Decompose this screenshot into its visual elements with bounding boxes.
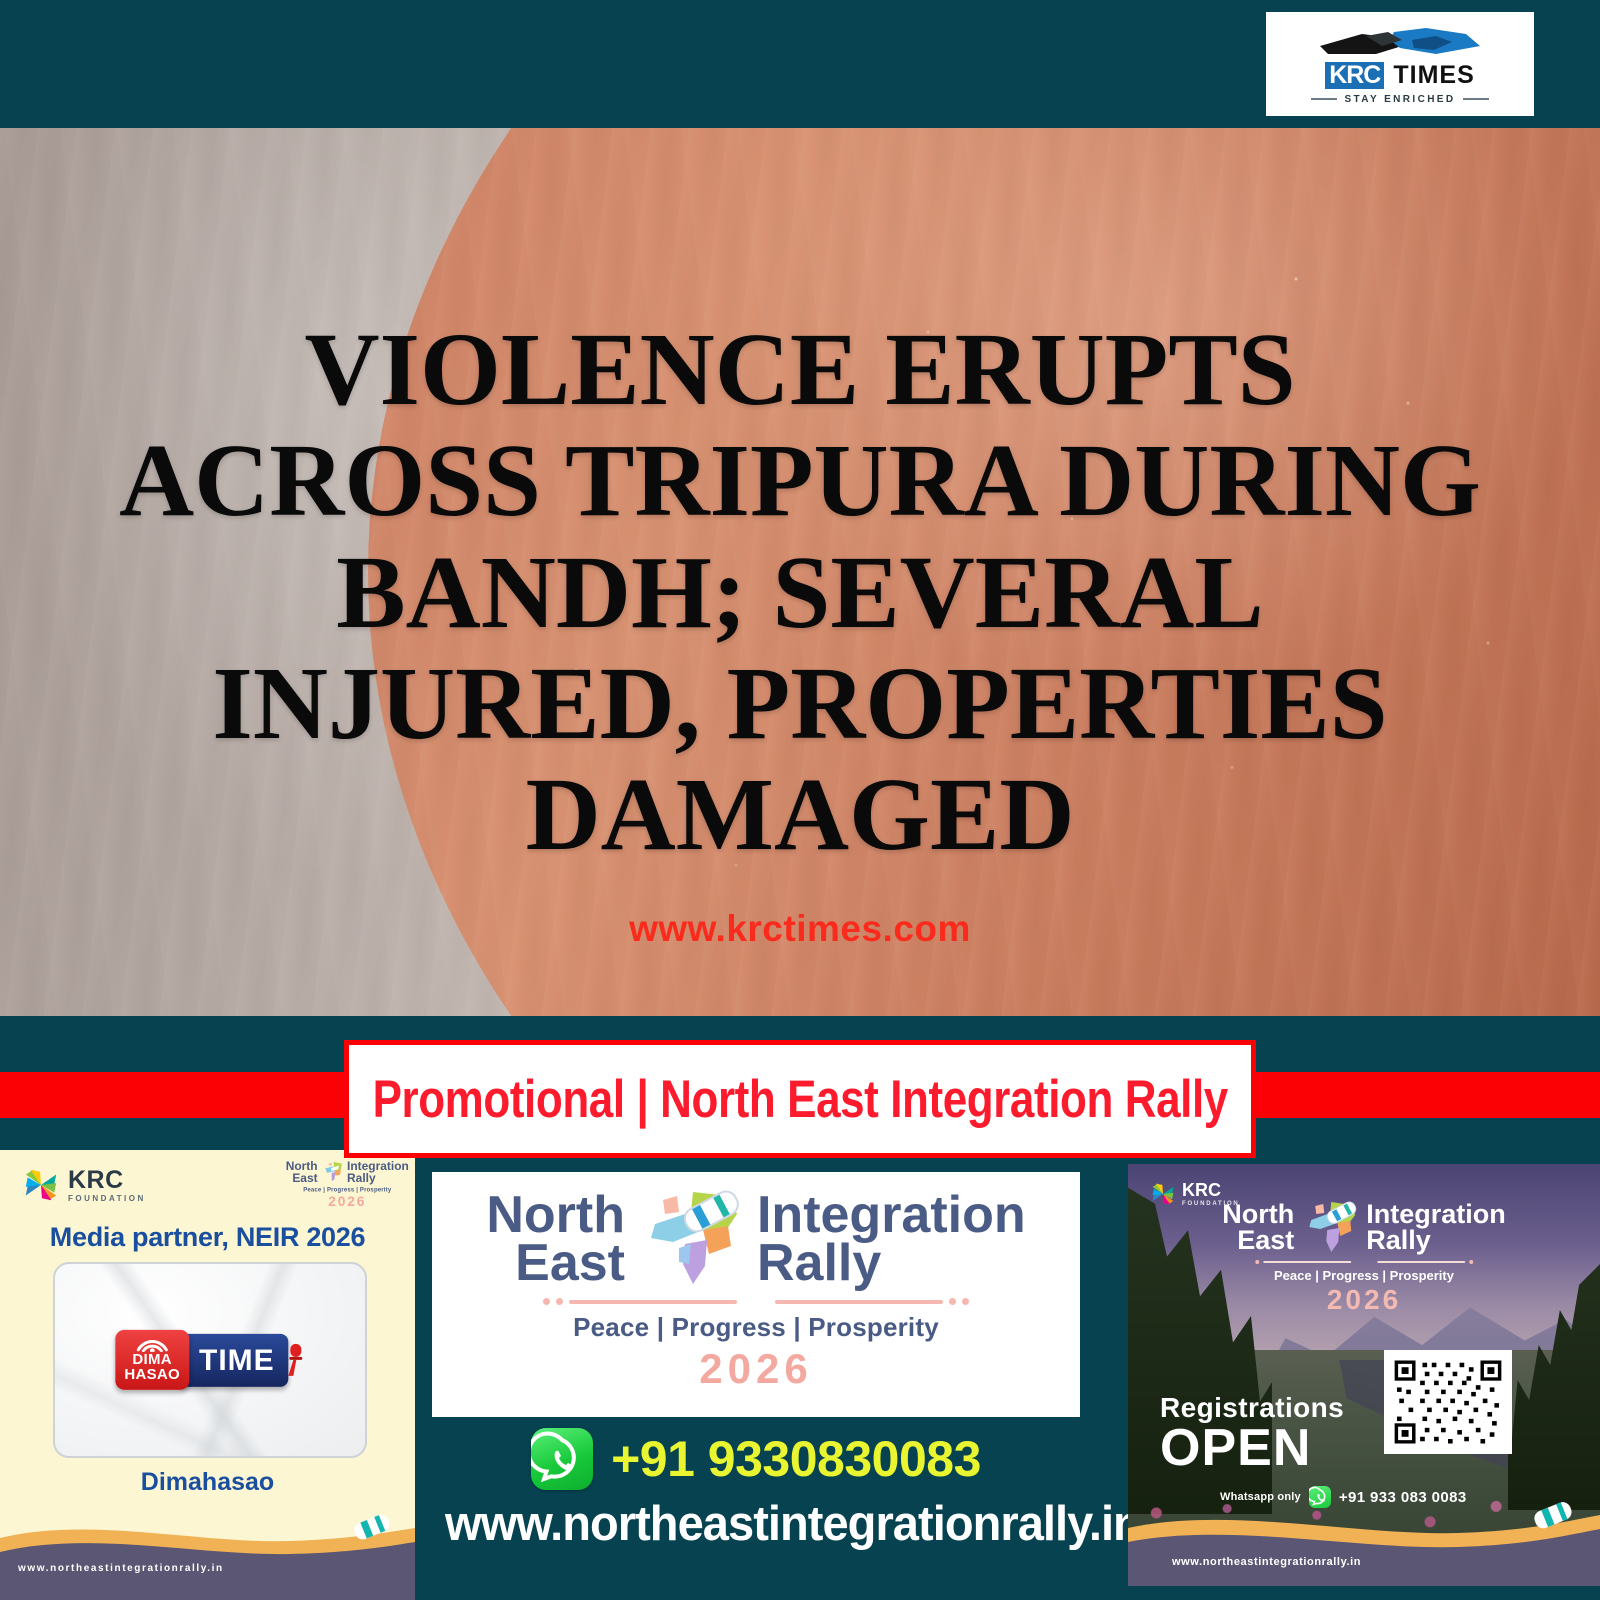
neir-large-tagline: Peace | Progress | Prosperity	[446, 1312, 1066, 1343]
neir-photo-year: 2026	[1222, 1284, 1505, 1316]
left-card-url: www.northeastintegrationrally.in	[18, 1563, 224, 1574]
right-card-url: www.northeastintegrationrally.in	[1172, 1556, 1361, 1568]
neir-photo-tagline: Peace | Progress | Prosperity	[1222, 1268, 1505, 1283]
time-text: TIME	[199, 1347, 275, 1374]
northeast-map-icon	[633, 1188, 749, 1292]
whatsapp-contact-row[interactable]: +91 9330830083	[432, 1428, 1080, 1490]
headline: VIOLENCE ERUPTS ACROSS TRIPURA DURING BA…	[90, 314, 1510, 870]
krc-times-logo: KRC TIMES STAY ENRICHED	[1266, 12, 1534, 116]
partner-location: Dimahasao	[0, 1468, 415, 1497]
partner-logo-frame: DIMA HASAO TIME	[53, 1262, 367, 1458]
neir-photo-divider	[1222, 1260, 1505, 1264]
neir-large-line4: Rally	[757, 1240, 1026, 1288]
neir-large-line1: North	[486, 1192, 625, 1240]
krc-foundation-name: KRC	[1182, 1180, 1240, 1201]
registrations-status: OPEN	[1160, 1424, 1344, 1473]
bottom-card-row: KRC FOUNDATION North East	[0, 1150, 1600, 1600]
neir-small-year: 2026	[286, 1194, 409, 1210]
registrations-status-block: Registrations OPEN	[1160, 1392, 1344, 1473]
rally-logo-panel: North East	[432, 1172, 1080, 1417]
neir-divider	[446, 1298, 1066, 1305]
neir-photo-line2: East	[1222, 1228, 1294, 1254]
neir-large-line3: Integration	[757, 1192, 1026, 1240]
wifi-signal-icon	[135, 1337, 169, 1352]
card-footer-wave: www.northeastintegrationrally.in	[0, 1508, 415, 1600]
krc-badge: KRC	[1325, 62, 1384, 89]
northeast-map-icon	[321, 1161, 345, 1183]
site-url: www.krctimes.com	[0, 908, 1600, 950]
hero-image: VIOLENCE ERUPTS ACROSS TRIPURA DURING BA…	[0, 128, 1600, 1016]
top-bar: KRC TIMES STAY ENRICHED	[0, 0, 1600, 128]
neir-logo-large: North East	[446, 1188, 1066, 1393]
promo-banner-text: Promotional | North East Integration Ral…	[372, 1069, 1227, 1130]
whatsapp-icon[interactable]	[531, 1428, 593, 1490]
neir-large-line2: East	[486, 1240, 625, 1288]
card-footer-wave: www.northeastintegrationrally.in	[1128, 1502, 1600, 1586]
neir-logo-small: North East	[286, 1160, 409, 1209]
time-block: TIME	[177, 1334, 289, 1387]
promo-banner: Promotional | North East Integration Ral…	[344, 1040, 1256, 1158]
neir-small-tagline: Peace | Progress | Prosperity	[286, 1186, 409, 1192]
krc-foundation-name: KRC	[68, 1168, 146, 1193]
media-partner-title: Media partner, NEIR 2026	[0, 1222, 415, 1253]
pinwheel-star-icon	[1150, 1181, 1176, 1207]
logo-tagline: STAY ENRICHED	[1344, 94, 1455, 105]
whatsapp-phone[interactable]: +91 9330830083	[611, 1430, 981, 1488]
hasao-text: HASAO	[124, 1368, 180, 1383]
rally-website-url[interactable]: www.northeastintegrationrally.in	[445, 1496, 1067, 1552]
media-partner-card: KRC FOUNDATION North East	[0, 1150, 415, 1600]
neir-logo-on-photo: North East	[1222, 1200, 1505, 1316]
krc-foundation-logo: KRC FOUNDATION	[22, 1166, 146, 1204]
registrations-card: KRC FOUNDATION North East	[1128, 1164, 1600, 1586]
microphone-icon	[285, 1343, 305, 1377]
tagline-rule-left	[1311, 98, 1337, 100]
media-partner-card-header: KRC FOUNDATION North East	[0, 1160, 415, 1214]
tagline-rule-right	[1463, 98, 1489, 100]
pinwheel-star-icon	[22, 1166, 60, 1204]
news-poster: KRC TIMES STAY ENRICHED VIOLENCE ERUPTS …	[0, 0, 1600, 1600]
krc-foundation-sub: FOUNDATION	[68, 1195, 146, 1203]
qr-code[interactable]	[1384, 1350, 1512, 1454]
handshake-icon	[1316, 24, 1484, 60]
dima-hasao-time-logo: DIMA HASAO TIME	[115, 1330, 304, 1390]
northeast-map-icon	[1299, 1200, 1361, 1256]
times-wordmark: TIMES	[1393, 63, 1474, 88]
dima-hasao-block: DIMA HASAO	[115, 1330, 189, 1390]
neir-photo-line4: Rally	[1366, 1228, 1506, 1254]
neir-small-line4: Rally	[347, 1172, 409, 1184]
neir-small-line2: East	[286, 1172, 318, 1184]
neir-large-year: 2026	[446, 1345, 1066, 1393]
